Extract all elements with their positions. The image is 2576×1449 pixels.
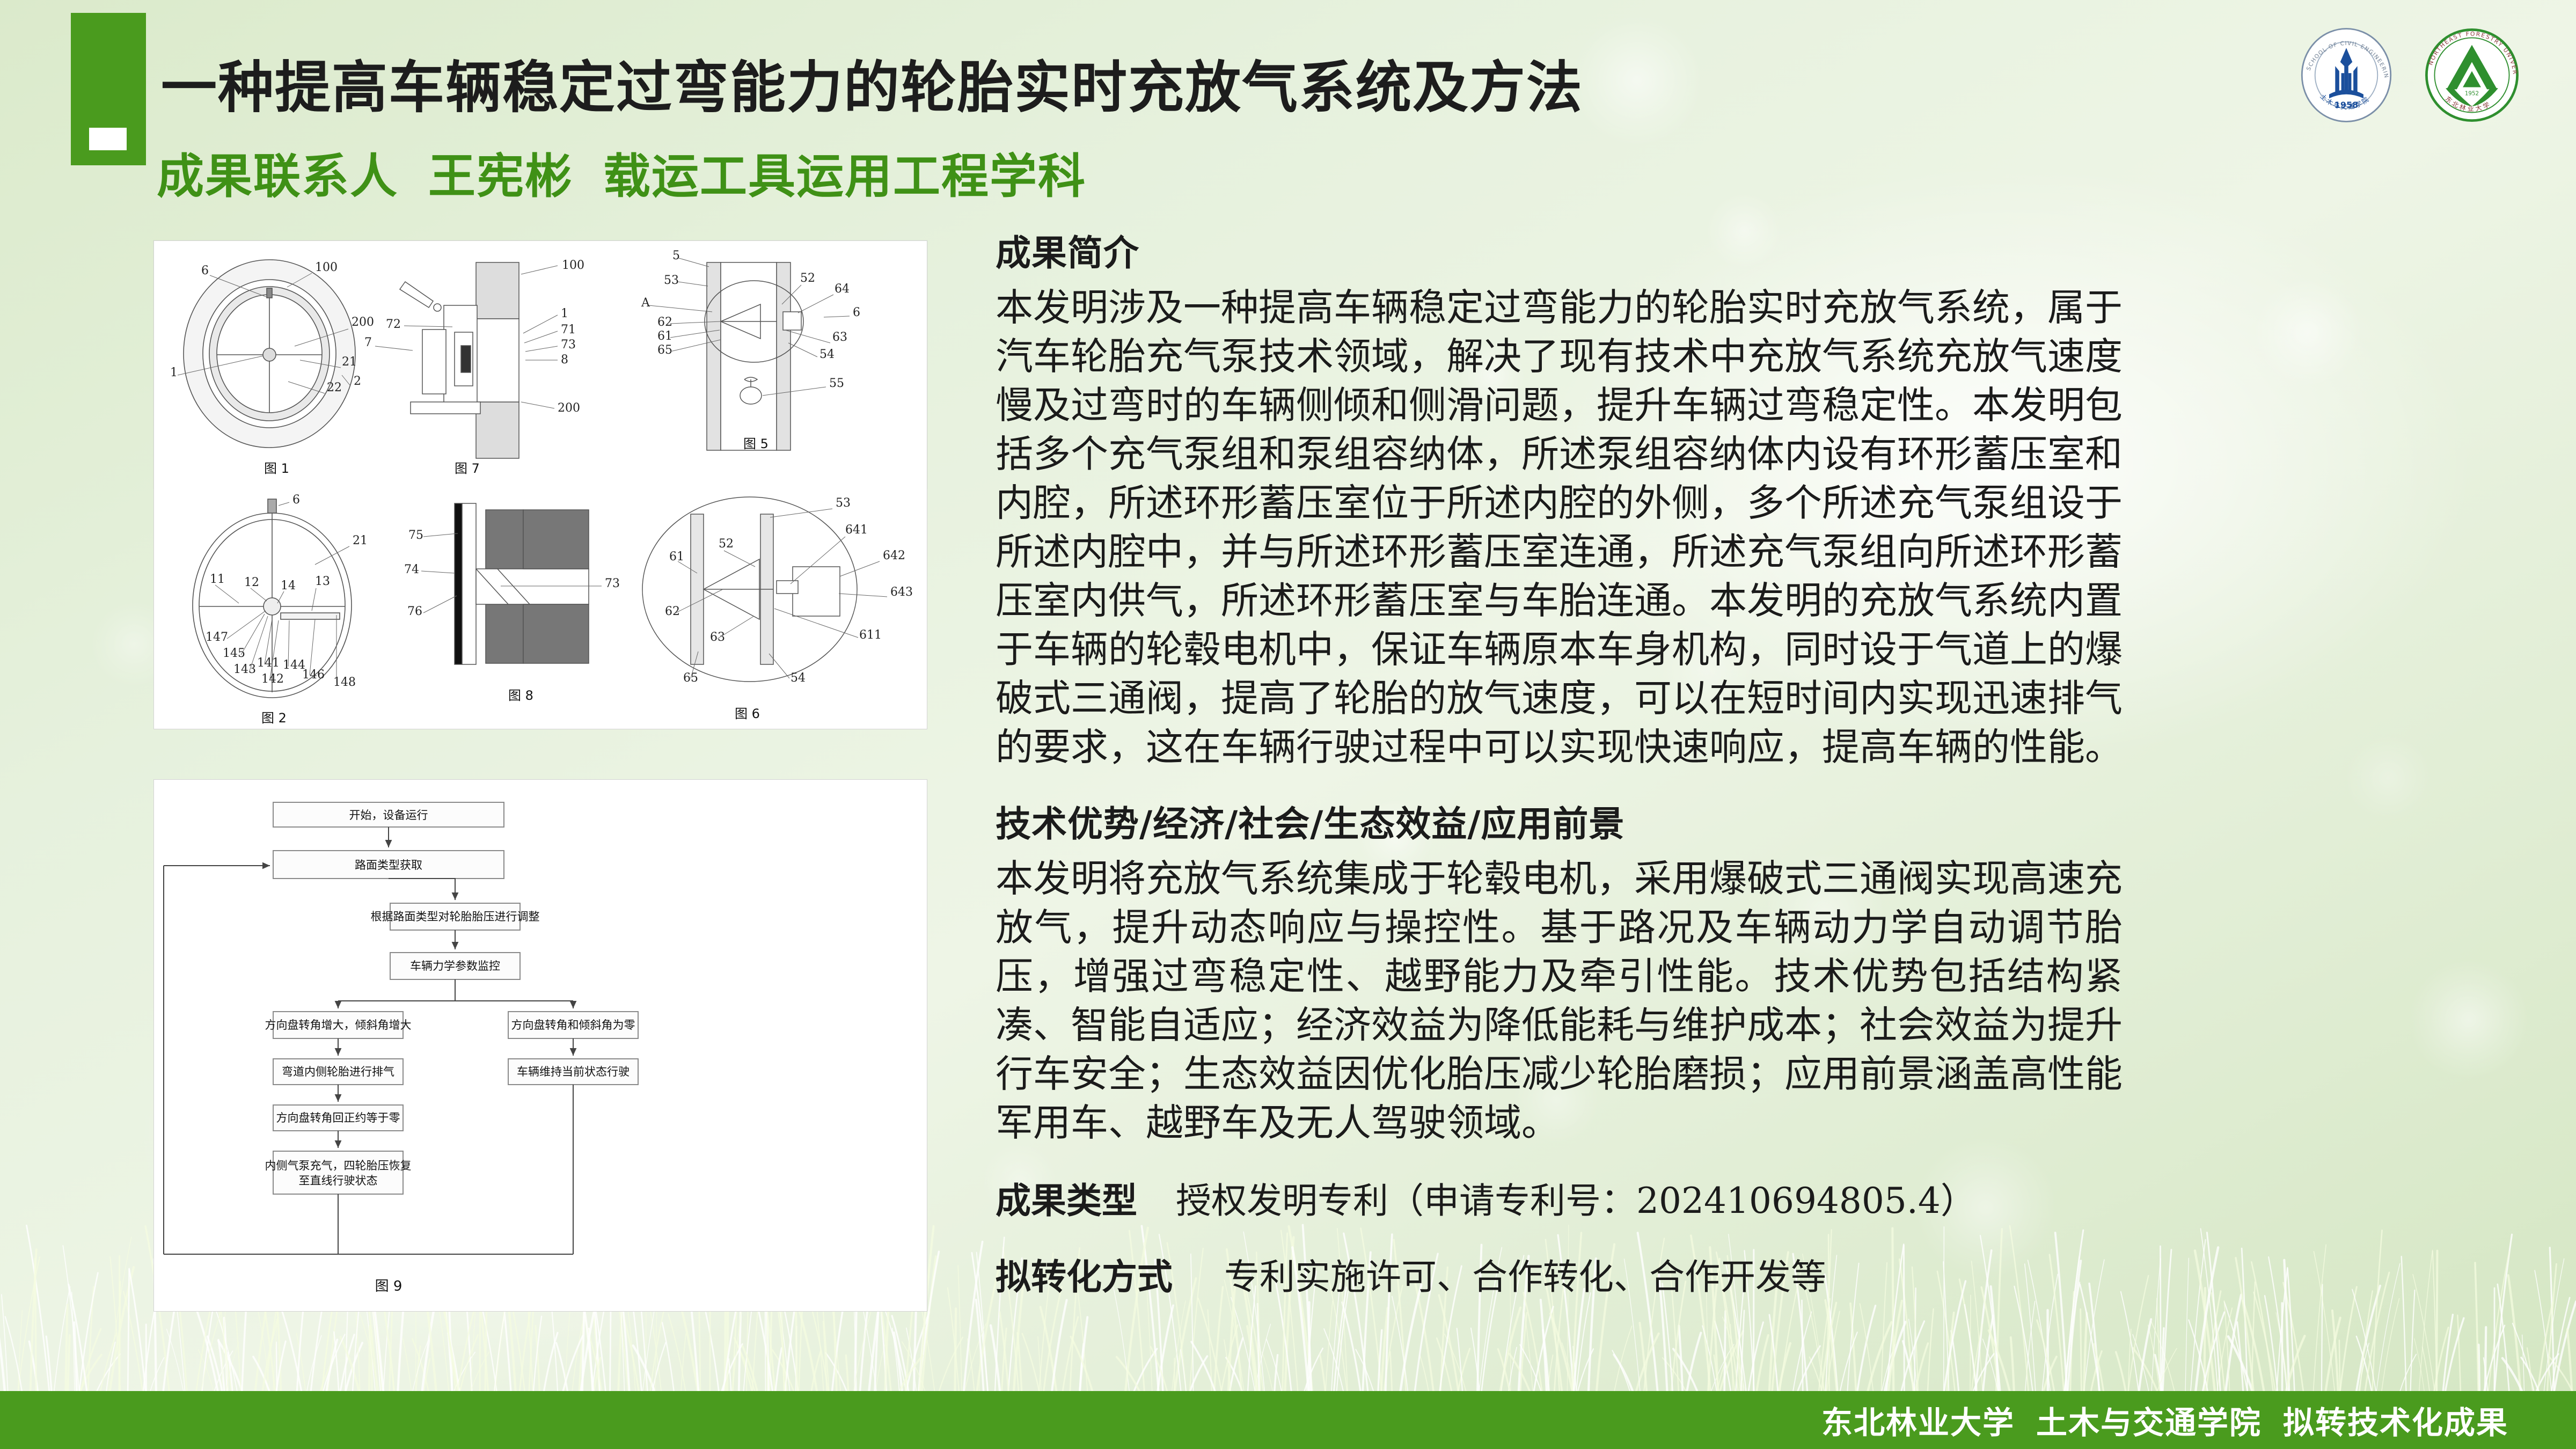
flow-node-10: 至直线行驶状态: [299, 1174, 378, 1187]
svg-text:54: 54: [819, 348, 835, 361]
header-accent-bar: [71, 13, 146, 165]
svg-text:8: 8: [561, 353, 568, 367]
svg-text:146: 146: [302, 668, 325, 682]
svg-text:14: 14: [281, 579, 296, 592]
svg-text:611: 611: [859, 628, 882, 642]
footer-college: 土木与交通学院: [2036, 1404, 2262, 1441]
svg-text:22: 22: [327, 381, 342, 394]
svg-text:1: 1: [561, 307, 568, 320]
svg-text:52: 52: [719, 537, 734, 551]
flow-node-6: 弯道内侧轮胎进行排气: [282, 1065, 394, 1078]
svg-text:7: 7: [364, 336, 372, 349]
transfer-mode-row: 拟转化方式 专利实施许可、合作转化、合作开发等: [996, 1248, 2123, 1300]
svg-text:55: 55: [829, 377, 844, 390]
svg-text:200: 200: [352, 316, 374, 329]
svg-text:61: 61: [669, 550, 684, 563]
flow-node-4: 方向盘转角增大，倾斜角增大: [265, 1019, 412, 1031]
svg-text:1952: 1952: [2465, 91, 2479, 97]
school-of-civil-engineering-and-transportation-logo: 1958 SCHOOL OF CIVIL ENGINEERING AND TRA…: [2296, 25, 2397, 126]
page-title: 一种提高车辆稳定过弯能力的轮胎实时充放气系统及方法: [161, 42, 1583, 123]
flow-node-9: 内侧气泵充气，四轮胎压恢复: [265, 1159, 412, 1172]
svg-text:54: 54: [791, 671, 806, 685]
svg-text:63: 63: [710, 631, 725, 644]
advantages-body: 本发明将充放气系统集成于轮毂电机，采用爆破式三通阀实现高速充放气，提升动态响应与…: [996, 854, 2123, 1147]
svg-text:142: 142: [261, 672, 284, 686]
fig-caption-8: 图 8: [508, 688, 533, 703]
svg-text:200: 200: [558, 401, 580, 415]
svg-text:100: 100: [315, 261, 338, 274]
svg-text:6: 6: [292, 493, 300, 507]
svg-text:65: 65: [657, 343, 672, 357]
advantages-heading: 技术优势/经济/社会/生态效益/应用前景: [996, 795, 2123, 847]
contact-department: 载运工具运用工程学科: [603, 149, 1086, 204]
contact-line: 成果联系人王宪彬载运工具运用工程学科: [157, 138, 1086, 207]
svg-text:642: 642: [883, 549, 905, 562]
contact-label: 成果联系人: [157, 149, 398, 204]
footer-tag: 拟转技术化成果: [2283, 1404, 2508, 1441]
svg-text:643: 643: [890, 586, 913, 599]
svg-text:61: 61: [657, 330, 672, 343]
svg-text:12: 12: [244, 576, 259, 589]
fig-caption-7: 图 7: [455, 461, 480, 476]
svg-text:62: 62: [665, 605, 680, 618]
footer-text: 东北林业大学土木与交通学院拟转技术化成果: [1821, 1397, 2508, 1443]
result-type-label: 成果类型: [996, 1172, 1137, 1224]
svg-text:11: 11: [210, 573, 225, 586]
svg-text:143: 143: [233, 663, 256, 676]
svg-text:147: 147: [206, 631, 228, 644]
svg-text:75: 75: [408, 529, 423, 542]
footer-university: 东北林业大学: [1821, 1404, 2015, 1441]
svg-text:6: 6: [853, 306, 860, 319]
svg-text:641: 641: [845, 523, 868, 537]
svg-text:21: 21: [353, 534, 368, 547]
svg-text:13: 13: [315, 575, 330, 588]
northeast-forestry-university-logo: 1952 NORTHEAST FORESTRY UNIVERSITY 东北林业大…: [2421, 25, 2522, 126]
svg-text:72: 72: [386, 318, 401, 331]
fig-caption-5: 图 5: [743, 436, 769, 451]
content-column: 成果简介 本发明涉及一种提高车辆稳定过弯能力的轮胎实时充放气系统，属于汽车轮胎充…: [996, 224, 2123, 1300]
transfer-mode-label: 拟转化方式: [996, 1248, 1173, 1300]
flow-node-3: 车辆力学参数监控: [410, 960, 500, 972]
header-accent-notch: [89, 128, 127, 150]
flow-node-1: 路面类型获取: [355, 859, 422, 872]
result-type-row: 成果类型 授权发明专利（申请专利号：202410694805.4）: [996, 1172, 2123, 1224]
svg-text:6: 6: [201, 264, 209, 277]
svg-text:63: 63: [832, 331, 847, 344]
svg-text:141: 141: [257, 656, 280, 670]
fig-caption-6: 图 6: [735, 706, 760, 721]
flowchart-caption: 图 9: [375, 1278, 402, 1294]
result-type-value: 授权发明专利（申请专利号：202410694805.4）: [1176, 1172, 1976, 1224]
flow-node-0: 开始，设备运行: [349, 809, 428, 822]
logo-group: 1958 SCHOOL OF CIVIL ENGINEERING AND TRA…: [2296, 25, 2522, 126]
svg-text:1: 1: [170, 366, 178, 379]
svg-text:62: 62: [657, 316, 672, 329]
intro-heading: 成果简介: [996, 224, 2123, 276]
svg-text:53: 53: [664, 274, 679, 287]
transfer-mode-value: 专利实施许可、合作转化、合作开发等: [1224, 1248, 1826, 1300]
fig-caption-1: 图 1: [264, 461, 289, 476]
flow-node-8: 方向盘转角回正约等于零: [276, 1111, 400, 1124]
svg-text:100: 100: [562, 259, 584, 272]
flow-node-5: 方向盘转角和倾斜角为零: [511, 1019, 635, 1031]
svg-text:52: 52: [800, 272, 815, 285]
page-footer: 东北林业大学土木与交通学院拟转技术化成果: [0, 1391, 2576, 1449]
svg-text:73: 73: [561, 338, 576, 352]
patent-figure-panel-middle: 621 1112 1413 147145 143141 142144 14614…: [153, 482, 927, 729]
svg-text:71: 71: [561, 323, 576, 336]
svg-text:21: 21: [342, 355, 357, 369]
svg-text:76: 76: [407, 605, 422, 618]
intro-body: 本发明涉及一种提高车辆稳定过弯能力的轮胎实时充放气系统，属于汽车轮胎充气泵技术领…: [996, 283, 2123, 772]
flowchart-panel: 开始，设备运行 路面类型获取 根据路面类型对轮胎胎压进行调整 车辆力学参数监控 …: [153, 779, 927, 1312]
fig-caption-2: 图 2: [261, 711, 287, 726]
svg-text:A: A: [641, 296, 650, 310]
flow-node-7: 车辆维持当前状态行驶: [517, 1065, 630, 1078]
svg-text:53: 53: [836, 496, 851, 510]
svg-text:74: 74: [404, 563, 419, 576]
svg-text:73: 73: [605, 577, 620, 590]
svg-text:2: 2: [354, 375, 361, 388]
svg-text:5: 5: [672, 249, 680, 262]
contact-name: 王宪彬: [428, 149, 573, 204]
svg-text:64: 64: [835, 282, 850, 296]
flow-node-2: 根据路面类型对轮胎胎压进行调整: [371, 910, 540, 923]
patent-figure-panel-top: 6100 20021 2221 图 1 727: [153, 240, 927, 488]
